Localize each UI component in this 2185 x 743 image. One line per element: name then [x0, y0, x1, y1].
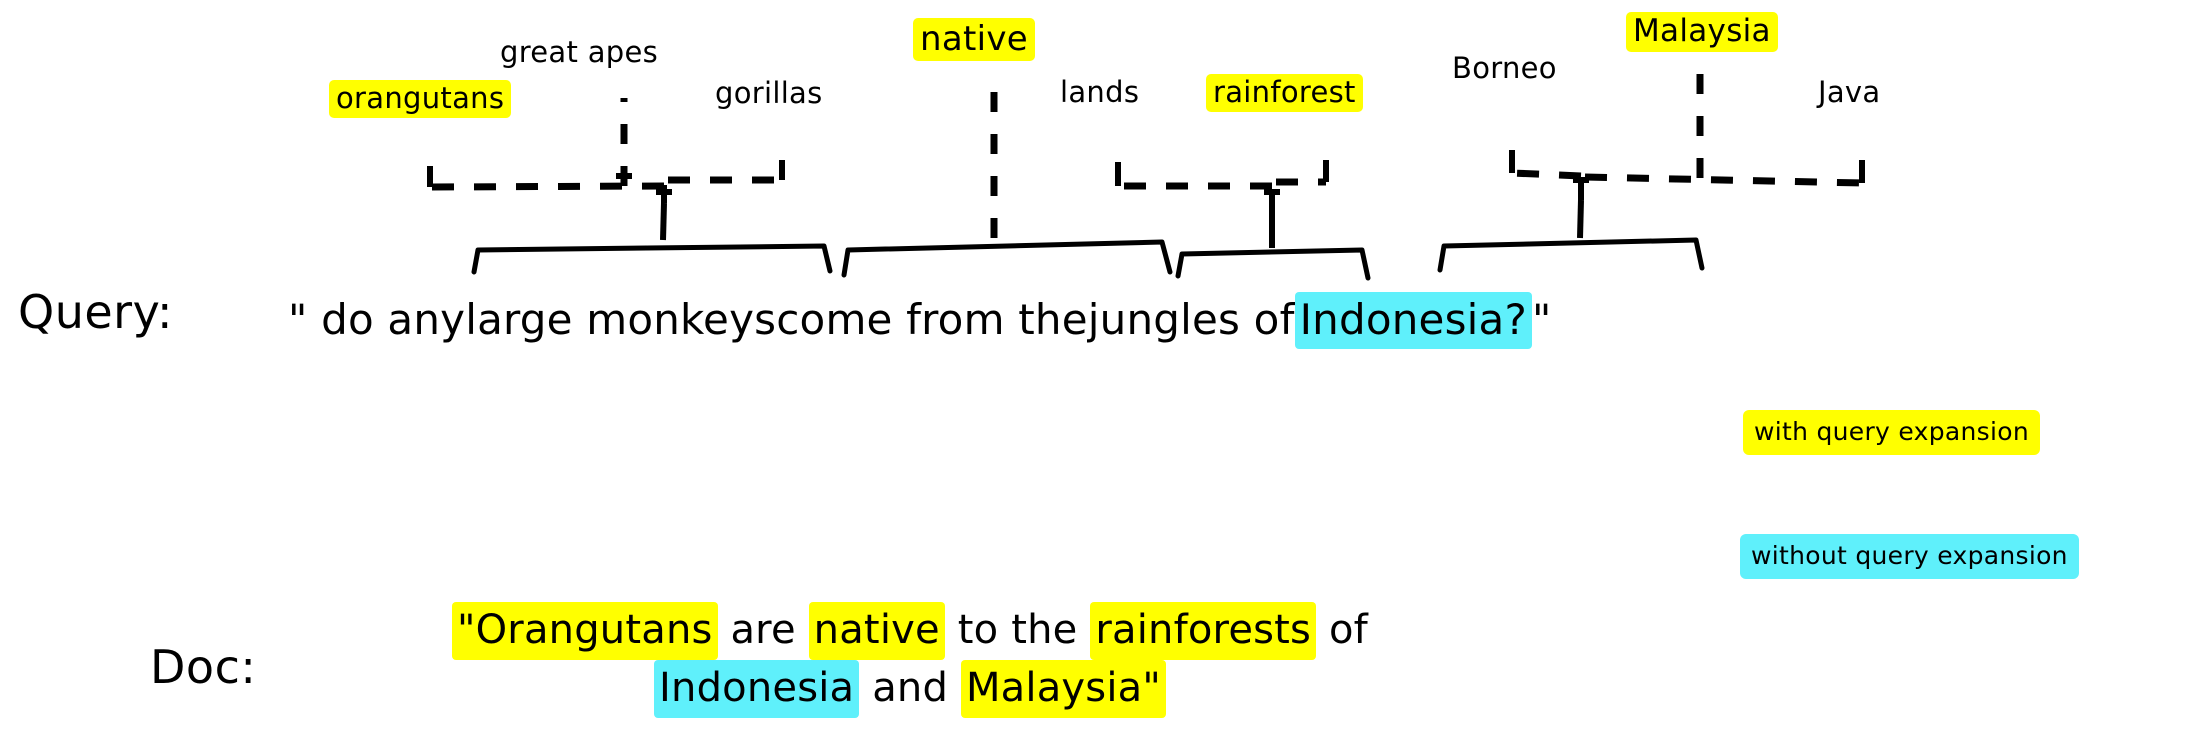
doc-seg-indonesia: Indonesia: [654, 660, 859, 718]
term-borneo-label: Borneo: [1452, 51, 1557, 85]
term-java-label: Java: [1818, 75, 1880, 109]
legend-with-query-expansion[interactable]: with query expansion: [1743, 410, 2040, 455]
term-native[interactable]: native: [913, 18, 1035, 61]
riser-apes-group: [663, 203, 664, 240]
doc-seg-rainforests: rainforests: [1090, 602, 1316, 660]
term-malaysia-label: Malaysia: [1626, 12, 1778, 52]
doc-seg-orangutans: "Orangutans: [452, 602, 718, 660]
term-gorillas-label: gorillas: [715, 76, 823, 110]
term-rainforest-label: rainforest: [1206, 74, 1363, 112]
doc-seg-and: and: [859, 665, 961, 711]
query-row-label: Query:: [18, 285, 173, 339]
doc-line-1: "Orangutans are native to the rainforest…: [410, 602, 1410, 660]
term-great-apes-label: great apes: [500, 35, 658, 69]
query-seg-indonesia: Indonesia?: [1295, 292, 1532, 349]
term-great-apes[interactable]: great apes: [500, 38, 658, 67]
term-native-label: native: [913, 18, 1035, 61]
legend-without-query-expansion[interactable]: without query expansion: [1740, 534, 2079, 579]
brace-indonesia: [1440, 240, 1702, 270]
query-close-quote: ": [1532, 295, 1552, 344]
brace-jungles-of: [1178, 250, 1368, 278]
doc-row-label: Doc:: [150, 640, 256, 694]
doc-seg-malaysia: Malaysia": [961, 660, 1166, 718]
legend-without-query-expansion-label: without query expansion: [1751, 541, 2068, 570]
query-seg-large-monkeys: large monkeys: [465, 295, 776, 344]
doc-line-2: Indonesia and Malaysia": [410, 660, 1410, 718]
term-borneo[interactable]: Borneo: [1452, 54, 1557, 83]
diagram-canvas: orangutans great apes gorillas native la…: [0, 0, 2185, 743]
doc-seg-of: of: [1316, 607, 1368, 653]
term-gorillas[interactable]: gorillas: [715, 79, 823, 108]
query-seg-jungles-of: jungles of: [1088, 295, 1295, 344]
dash-arm-borneo: [1512, 173, 1581, 176]
doc-seg-to-the: to the: [945, 607, 1091, 653]
term-rainforest[interactable]: rainforest: [1206, 74, 1363, 112]
term-orangutans[interactable]: orangutans: [329, 80, 511, 118]
riser-indonesia-group: [1580, 200, 1581, 238]
query-seg-come-from-the: come from the: [776, 295, 1088, 344]
query-sentence: " do any large monkeys come from the jun…: [288, 292, 1552, 349]
query-seg-do-any: do any: [321, 295, 465, 344]
term-lands-label: lands: [1060, 75, 1139, 109]
term-malaysia[interactable]: Malaysia: [1626, 12, 1778, 52]
term-orangutans-label: orangutans: [329, 80, 511, 118]
brace-large-monkeys: [474, 246, 830, 272]
dash-arm-java: [1585, 177, 1862, 183]
query-open-quote: ": [288, 295, 308, 344]
doc-text: "Orangutans are native to the rainforest…: [410, 602, 1410, 718]
doc-seg-native: native: [809, 602, 945, 660]
term-java[interactable]: Java: [1818, 78, 1880, 107]
brace-come-from-the: [844, 242, 1170, 275]
doc-seg-are: are: [718, 607, 809, 653]
dash-arm-orangutans: [432, 186, 664, 187]
legend-with-query-expansion-label: with query expansion: [1754, 417, 2029, 446]
term-lands[interactable]: lands: [1060, 78, 1139, 107]
